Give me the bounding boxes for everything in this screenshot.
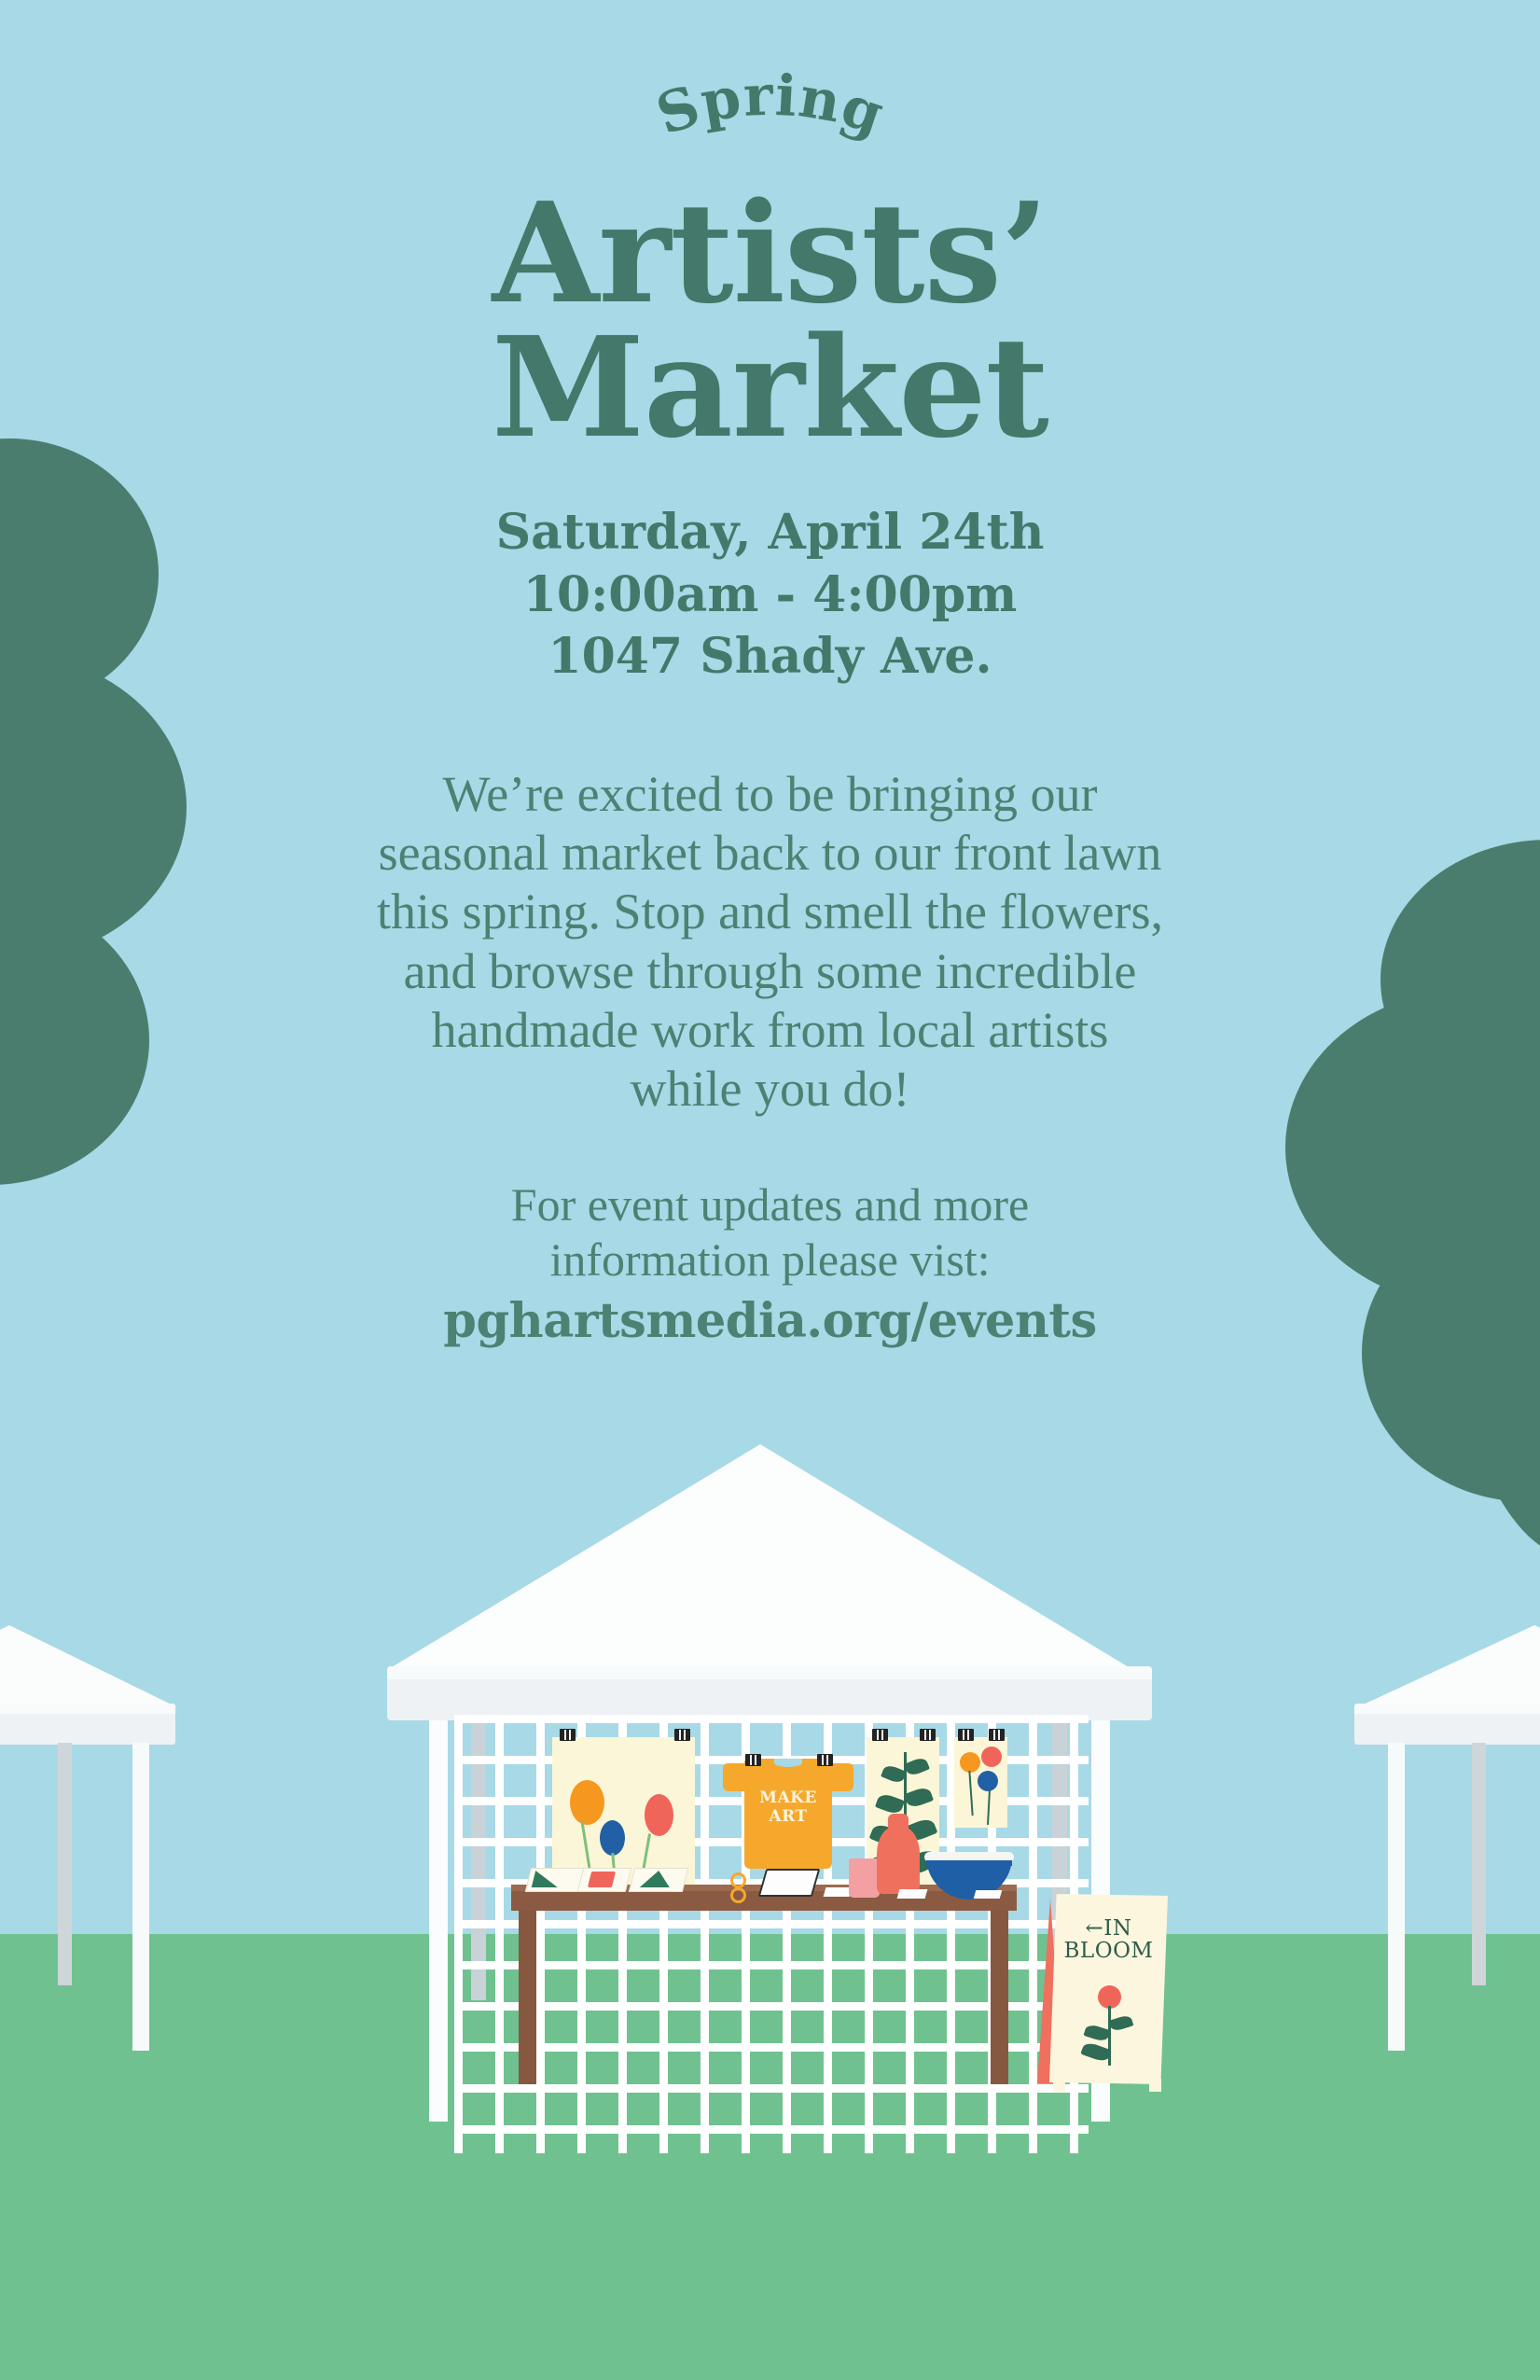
tulip-red <box>645 1794 673 1836</box>
eyebrow-text: Spring <box>648 63 892 148</box>
red-vase-neck <box>888 1814 909 1836</box>
description-line-3: this spring. Stop and smell the flowers, <box>0 883 1540 941</box>
white-card-3 <box>974 1890 1003 1899</box>
page-title: Artists’ Market <box>0 187 1540 454</box>
print-card-3-art <box>640 1871 673 1887</box>
tent-left-pole-shadow <box>58 1743 72 1985</box>
binder-clip <box>745 1754 761 1766</box>
binder-clip <box>674 1729 690 1741</box>
event-time: 10:00am - 4:00pm <box>0 564 1540 627</box>
title-line-2: Market <box>0 321 1540 455</box>
tent-main-valance-highlight <box>387 1666 1152 1679</box>
event-address: 1047 Shady Ave. <box>0 626 1540 689</box>
sign-arrow-icon: ← <box>1086 1916 1104 1941</box>
event-description: We’re excited to be bringing our seasona… <box>0 765 1540 1119</box>
white-card-1 <box>824 1887 853 1897</box>
event-url[interactable]: pghartsmedia.org/events <box>0 1293 1540 1349</box>
print-card-1-art <box>532 1871 562 1887</box>
binder-clip <box>920 1729 936 1741</box>
print-card-2-art <box>588 1872 616 1887</box>
sign-line-2: BLOOM <box>1064 1939 1154 1963</box>
binder-clip <box>872 1729 888 1741</box>
tulip-orange <box>570 1780 604 1825</box>
binder-clip <box>560 1729 576 1741</box>
tent-main-canopy <box>387 1444 1133 1670</box>
tulip-blue <box>600 1820 625 1856</box>
flower-red <box>981 1747 1002 1767</box>
red-vase <box>877 1827 920 1894</box>
earring-top <box>730 1872 746 1888</box>
description-line-5: handmade work from local artists <box>0 1001 1540 1060</box>
more-info-line-2: information please vist: <box>0 1232 1540 1287</box>
flower-orange <box>960 1752 980 1773</box>
binder-clip <box>989 1729 1005 1741</box>
tshirt-line-2: ART <box>769 1807 807 1826</box>
table-leg-left <box>519 1911 536 2084</box>
event-date: Saturday, April 24th <box>0 502 1540 564</box>
table-leg-right <box>991 1911 1008 2084</box>
description-line-2: seasonal market back to our front lawn <box>0 824 1540 883</box>
earring-bottom <box>730 1887 746 1903</box>
binder-clip <box>817 1754 833 1766</box>
white-card-2 <box>897 1889 928 1899</box>
sign-line-1: IN <box>1103 1916 1131 1941</box>
flower-blue <box>978 1771 998 1791</box>
description-line-1: We’re excited to be bringing our <box>0 765 1540 824</box>
poster-root: Spring Artists’ Market Saturday, April 2… <box>0 0 1540 2380</box>
tshirt-line-1: MAKE <box>759 1788 817 1807</box>
description-line-4: and browse through some incredible <box>0 942 1540 1001</box>
event-details: Saturday, April 24th 10:00am - 4:00pm 10… <box>0 502 1540 689</box>
sign-foot-right <box>1149 2079 1161 2092</box>
more-info: For event updates and more information p… <box>0 1177 1540 1349</box>
binder-clip <box>958 1729 974 1741</box>
tent-right-pole-shadow <box>1472 1743 1486 1985</box>
description-line-6: while you do! <box>0 1060 1540 1119</box>
sign-foot-left <box>1053 2079 1065 2092</box>
sketch-tablet <box>758 1869 821 1897</box>
more-info-line-1: For event updates and more <box>0 1177 1540 1232</box>
blue-bowl-rim-stripe <box>926 1860 1012 1866</box>
tent-main-pole-front-left <box>429 1720 448 2122</box>
title-line-1: Artists’ <box>0 187 1540 321</box>
svg-text:Spring: Spring <box>648 63 892 148</box>
tent-right-pole-front <box>1388 1743 1405 2051</box>
tent-left-pole-front <box>132 1743 149 2051</box>
